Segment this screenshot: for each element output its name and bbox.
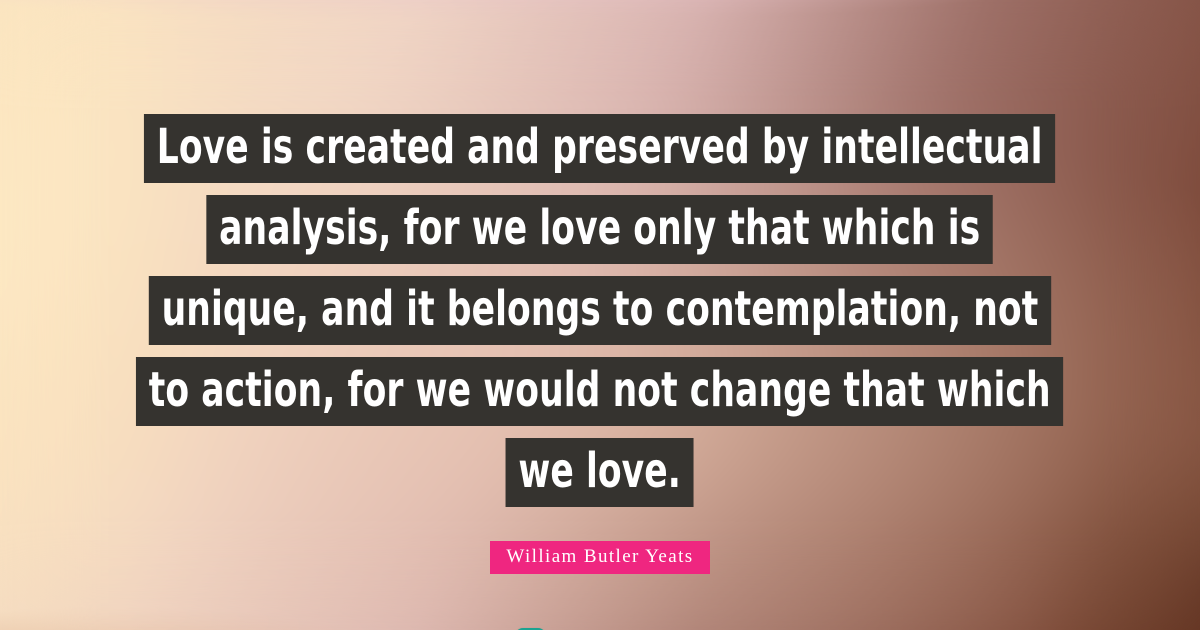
quote-line: we love. <box>506 438 694 507</box>
quote-line: analysis, for we love only that which is <box>207 195 994 264</box>
quote-line: unique, and it belongs to contemplation,… <box>149 276 1051 345</box>
quote-card: Love is created and preserved by intelle… <box>0 0 1200 630</box>
quote-line: Love is created and preserved by intelle… <box>144 114 1055 183</box>
quote-line: to action, for we would not change that … <box>136 357 1064 426</box>
quote-author: William Butler Yeats <box>490 541 709 574</box>
quote-text-block: Love is created and preserved by intelle… <box>0 114 1200 519</box>
attribution-wrapper: William Butler Yeats <box>490 541 709 574</box>
card-content: Love is created and preserved by intelle… <box>0 0 1200 630</box>
